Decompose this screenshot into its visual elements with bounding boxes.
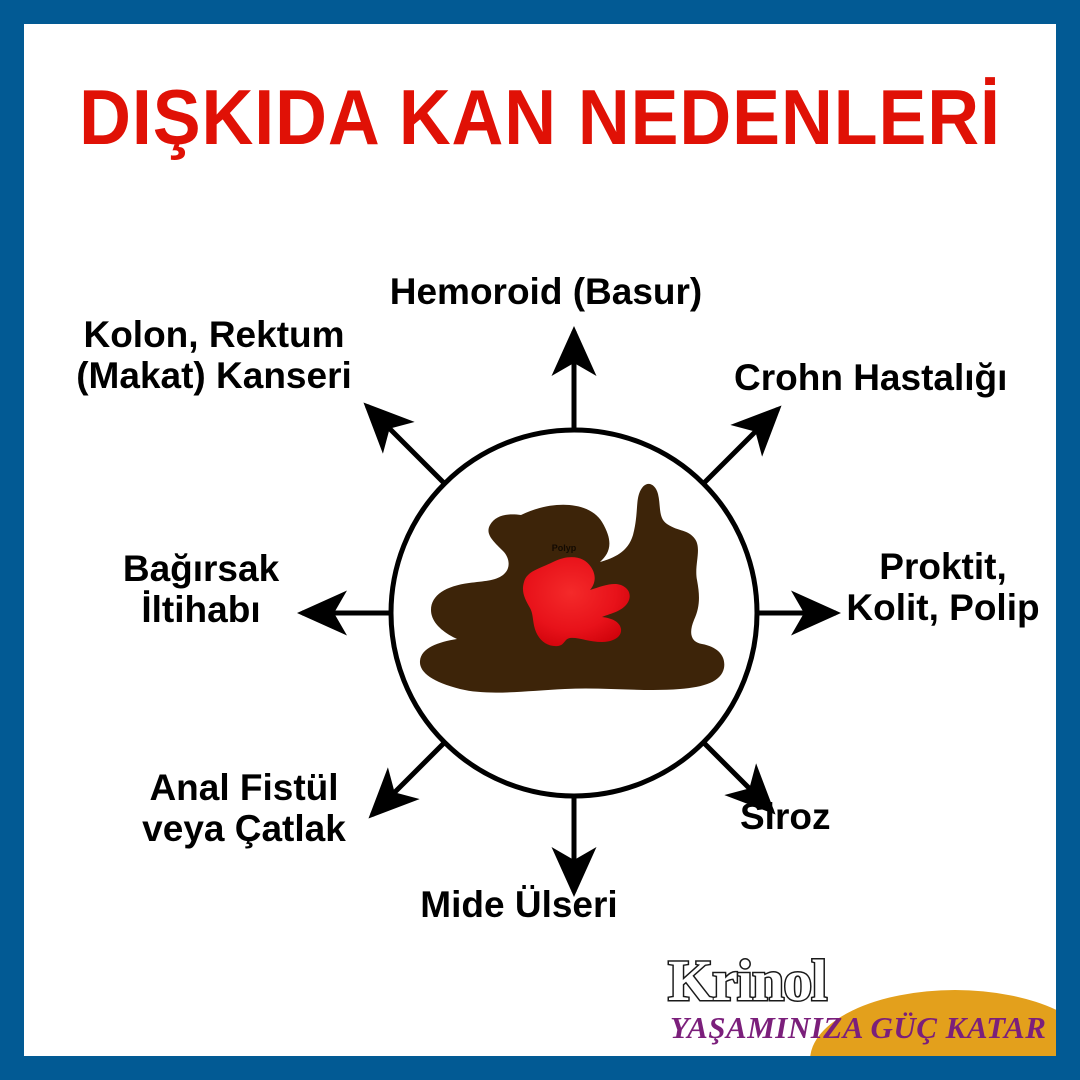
arrow-up-right	[703, 409, 778, 484]
label-mide-ulseri: Mide Ülseri	[269, 884, 769, 925]
poster-root: DIŞKIDA KAN NEDENLERİ	[0, 0, 1080, 1080]
label-siroz: Siroz	[740, 796, 940, 837]
label-kolon-rektum-kanseri: Kolon, Rektum (Makat) Kanseri	[44, 314, 384, 397]
label-proktit-kolit-polip: Proktit, Kolit, Polip	[830, 546, 1056, 629]
radial-diagram: Polyp Hemoroid (Basur) Crohn Hastalığı P…	[24, 24, 1056, 1056]
label-hemoroid: Hemoroid (Basur)	[356, 271, 736, 312]
label-crohn: Crohn Hastalığı	[734, 357, 1056, 398]
stool-inner-caption: Polyp	[552, 543, 577, 553]
arrow-up-left	[367, 406, 445, 484]
logo-brand-name: Krinol	[668, 952, 826, 1010]
logo-tagline: YAŞAMINIZA GÜÇ KATAR	[670, 1012, 1046, 1043]
label-bagirsak-iltihabi: Bağırsak İltihabı	[86, 548, 316, 631]
label-anal-fistul: Anal Fistül veya Çatlak	[114, 767, 374, 850]
poster-canvas: DIŞKIDA KAN NEDENLERİ	[24, 24, 1056, 1056]
brand-logo: Krinol YAŞAMINIZA GÜÇ KATAR	[660, 956, 1056, 1056]
arrow-down-left	[372, 742, 445, 815]
